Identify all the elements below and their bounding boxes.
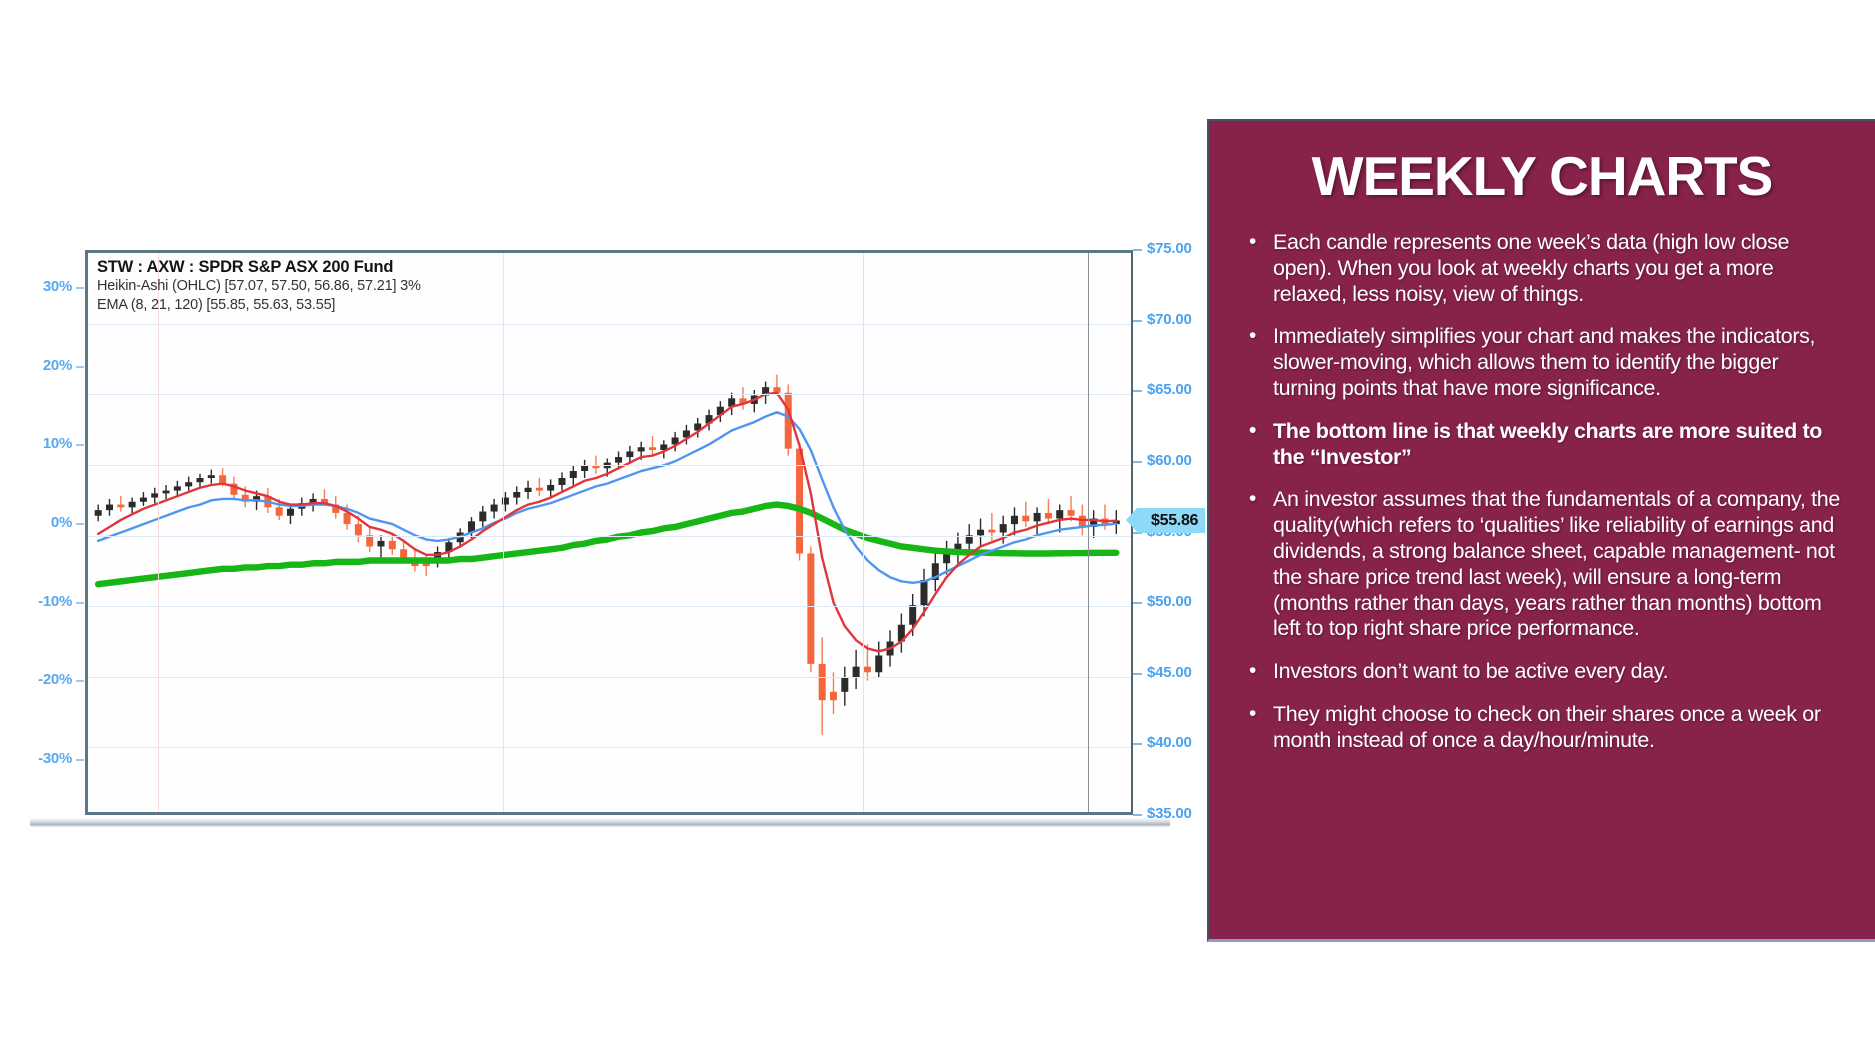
left-axis-tick-label: 20% bbox=[12, 357, 72, 374]
candle-body bbox=[1022, 516, 1029, 522]
left-axis-tick bbox=[76, 287, 84, 289]
left-axis-tick-label: -30% bbox=[12, 750, 72, 767]
chart-title: STW : AXW : SPDR S&P ASX 200 Fund bbox=[97, 258, 421, 276]
candle-body bbox=[830, 692, 837, 700]
ema-8-line bbox=[98, 393, 1116, 652]
candle-body bbox=[491, 505, 498, 512]
left-axis-tick bbox=[76, 759, 84, 761]
candle-body bbox=[1056, 510, 1063, 518]
bullet-item-6: They might choose to check on their shar… bbox=[1247, 702, 1847, 754]
horizontal-scrollbar[interactable] bbox=[30, 818, 1170, 827]
candle-body bbox=[1068, 510, 1075, 516]
candle-body bbox=[355, 524, 362, 535]
candle-body bbox=[966, 535, 973, 543]
candle-body bbox=[875, 655, 882, 672]
candle-body bbox=[117, 505, 124, 508]
chart-ohlc-readout: Heikin-Ashi (OHLC) [57.07, 57.50, 56.86,… bbox=[97, 278, 421, 294]
candle-body bbox=[400, 549, 407, 557]
vertical-gridline bbox=[863, 253, 864, 812]
candle-body bbox=[276, 507, 283, 515]
vertical-gridline bbox=[503, 253, 504, 812]
horizontal-gridline bbox=[88, 677, 1131, 678]
left-axis-tick bbox=[76, 602, 84, 604]
candle-body bbox=[174, 486, 181, 490]
left-axis-tick bbox=[76, 523, 84, 525]
ema-120-line bbox=[98, 505, 1116, 585]
slide-panel: WEEKLY CHARTS Each candle represents one… bbox=[1207, 119, 1875, 942]
left-axis-tick-label: 0% bbox=[12, 514, 72, 531]
candle-body bbox=[140, 498, 147, 502]
chart-region: 30%20%10%0%-10%-20%-30% $75.00$70.00$65.… bbox=[0, 0, 1200, 1064]
right-axis-tick bbox=[1133, 743, 1142, 745]
candle-body bbox=[864, 667, 871, 673]
slide-title: WEEKLY CHARTS bbox=[1209, 149, 1875, 204]
candle-body bbox=[841, 678, 848, 692]
candle-body bbox=[615, 457, 622, 463]
candle-body bbox=[920, 580, 927, 605]
candle-body bbox=[649, 447, 656, 450]
candle-body bbox=[1045, 513, 1052, 519]
candle-body bbox=[626, 451, 633, 457]
right-axis-tick bbox=[1133, 602, 1142, 604]
current-price-marker[interactable]: $55.86 bbox=[1137, 508, 1205, 533]
candle-body bbox=[581, 465, 588, 471]
candle-body bbox=[1000, 524, 1007, 532]
bullet-item-4: An investor assumes that the fundamental… bbox=[1247, 487, 1847, 642]
ema-21-line bbox=[98, 412, 1116, 583]
bullet-item-1: Each candle represents one week’s data (… bbox=[1247, 230, 1847, 307]
bullet-item-5: Investors don’t want to be active every … bbox=[1247, 659, 1847, 685]
candle-body bbox=[977, 530, 984, 536]
bullet-item-3: The bottom line is that weekly charts ar… bbox=[1247, 419, 1847, 471]
bullet-item-2: Immediately simplifies your chart and ma… bbox=[1247, 324, 1847, 401]
candle-body bbox=[819, 664, 826, 700]
candle-body bbox=[988, 530, 995, 533]
chart-ema-readout: EMA (8, 21, 120) [55.85, 55.63, 53.55] bbox=[97, 297, 421, 313]
candle-body bbox=[558, 478, 565, 485]
candle-body bbox=[1079, 516, 1086, 527]
candle-body bbox=[525, 488, 532, 492]
right-axis-tick bbox=[1133, 673, 1142, 675]
vertical-gridline bbox=[158, 253, 159, 812]
candle-body bbox=[638, 447, 645, 451]
chart-header: STW : AXW : SPDR S&P ASX 200 Fund Heikin… bbox=[97, 258, 421, 313]
horizontal-gridline bbox=[88, 324, 1131, 325]
candle-body bbox=[185, 482, 192, 486]
candle-body bbox=[163, 491, 170, 494]
left-axis-tick bbox=[76, 366, 84, 368]
candle-body bbox=[208, 475, 215, 478]
left-axis-tick-label: -10% bbox=[12, 593, 72, 610]
candle-body bbox=[377, 541, 384, 547]
right-axis-tick bbox=[1133, 320, 1142, 322]
candle-body bbox=[570, 471, 577, 478]
candle-body bbox=[366, 535, 373, 546]
candle-body bbox=[547, 485, 554, 491]
candle-body bbox=[1034, 513, 1041, 521]
candle-body bbox=[219, 475, 226, 483]
left-axis-tick bbox=[76, 444, 84, 446]
right-axis-tick bbox=[1133, 461, 1142, 463]
candle-body bbox=[344, 513, 351, 524]
candle-body bbox=[513, 492, 520, 498]
left-axis-tick bbox=[76, 680, 84, 682]
left-axis-tick-label: -20% bbox=[12, 671, 72, 688]
candlestick-svg bbox=[88, 253, 1131, 812]
candle-body bbox=[479, 512, 486, 522]
horizontal-gridline bbox=[88, 536, 1131, 537]
candle-body bbox=[196, 478, 203, 482]
candle-body bbox=[536, 488, 543, 491]
current-price-label: $55.86 bbox=[1151, 512, 1198, 530]
left-axis-tick-label: 30% bbox=[12, 278, 72, 295]
candle-body bbox=[106, 505, 113, 511]
right-axis-tick bbox=[1133, 390, 1142, 392]
horizontal-gridline bbox=[88, 747, 1131, 748]
horizontal-gridline bbox=[88, 394, 1131, 395]
chart-plot-area[interactable] bbox=[85, 250, 1133, 815]
candle-body bbox=[807, 553, 814, 663]
candle-body bbox=[95, 510, 102, 516]
candle-body bbox=[389, 541, 396, 549]
bullet-list: Each candle represents one week’s data (… bbox=[1209, 230, 1875, 754]
candle-body bbox=[287, 509, 294, 516]
horizontal-gridline bbox=[88, 606, 1131, 607]
candle-body bbox=[909, 605, 916, 625]
horizontal-gridline bbox=[88, 465, 1131, 466]
right-axis-tick bbox=[1133, 814, 1142, 816]
left-axis-tick-label: 10% bbox=[12, 435, 72, 452]
vertical-gridline bbox=[1088, 253, 1089, 812]
right-axis-tick bbox=[1133, 249, 1142, 251]
candle-body bbox=[129, 502, 136, 508]
candle-body bbox=[1011, 516, 1018, 524]
